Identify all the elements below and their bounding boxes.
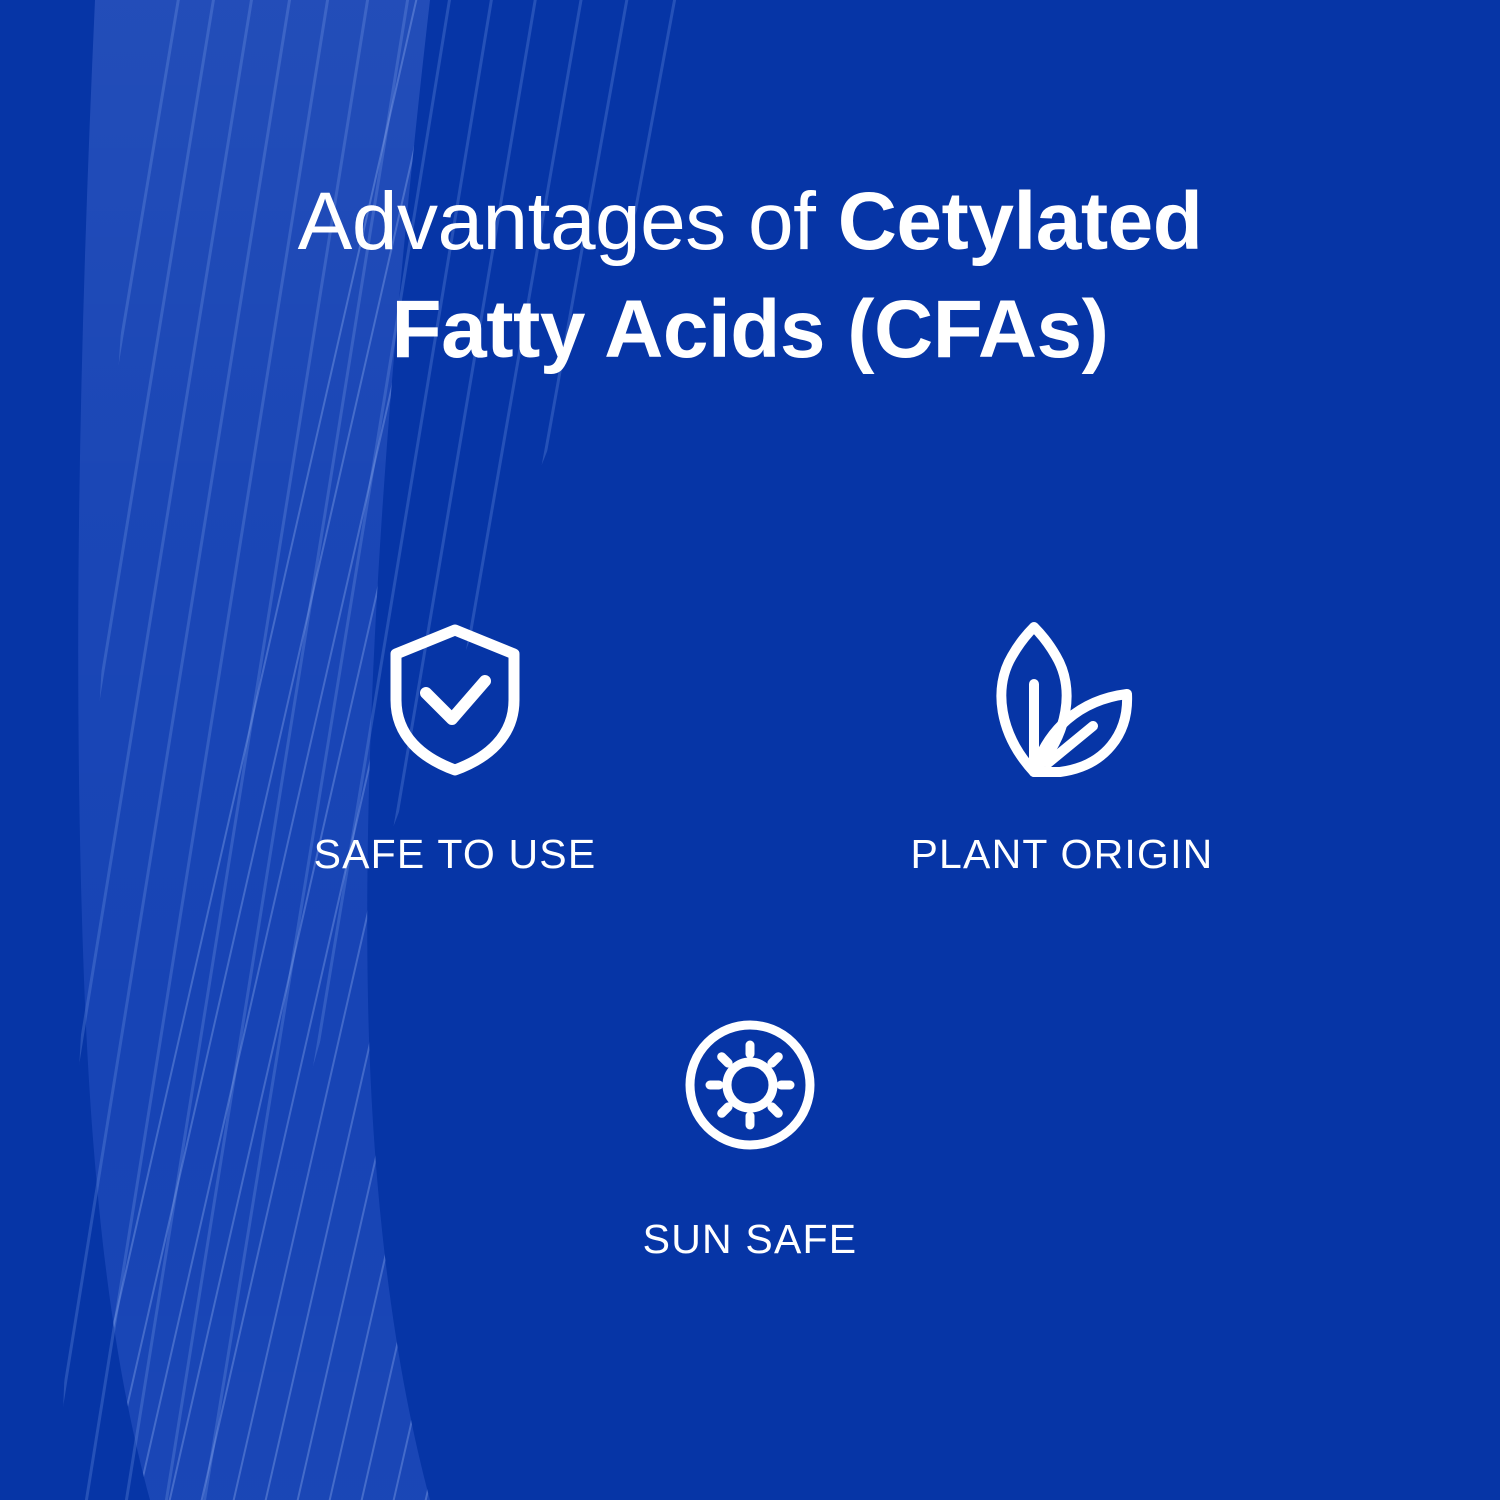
leaf-plant-icon xyxy=(882,620,1242,780)
feature-label-plant: PLANT ORIGIN xyxy=(882,832,1242,876)
title-bold-part-2: Fatty Acids (CFAs) xyxy=(392,284,1109,375)
infographic-canvas: Advantages of Cetylated Fatty Acids (CFA… xyxy=(0,0,1500,1500)
page-title: Advantages of Cetylated Fatty Acids (CFA… xyxy=(0,168,1500,384)
feature-label-sun: SUN SAFE xyxy=(570,1217,930,1261)
feature-safe-to-use: SAFE TO USE xyxy=(275,620,635,876)
title-line-1: Advantages of Cetylated xyxy=(0,168,1500,276)
feature-plant-origin: PLANT ORIGIN xyxy=(882,620,1242,876)
title-line-2: Fatty Acids (CFAs) xyxy=(0,276,1500,384)
sun-circle-icon xyxy=(570,1005,930,1165)
title-regular-part: Advantages of xyxy=(298,176,838,267)
feature-sun-safe: SUN SAFE xyxy=(570,1005,930,1261)
shield-check-icon xyxy=(275,620,635,780)
title-bold-part-1: Cetylated xyxy=(838,176,1203,267)
feature-label-safe: SAFE TO USE xyxy=(275,832,635,876)
